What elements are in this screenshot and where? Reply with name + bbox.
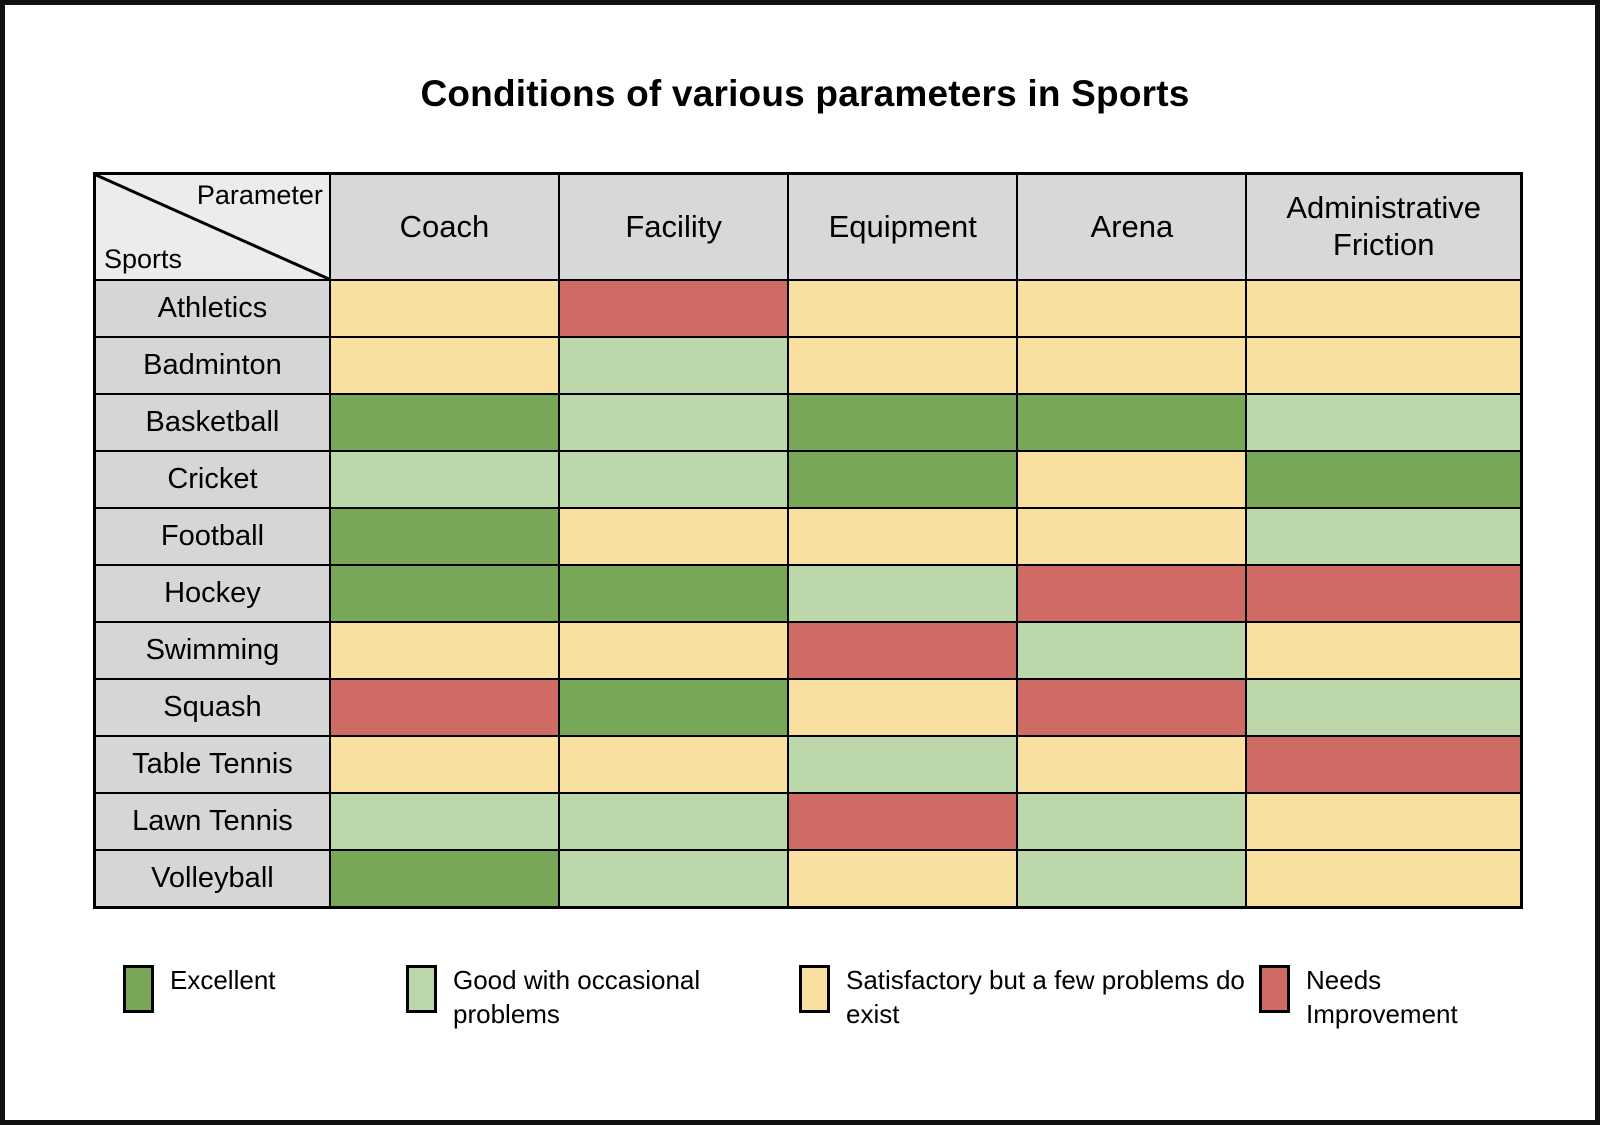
matrix-cell-badminton-coach <box>330 337 559 394</box>
row-header-lawn-tennis: Lawn Tennis <box>95 793 330 850</box>
legend-item-good: Good with occasional problems <box>406 960 799 1032</box>
matrix-cell-athletics-facility <box>559 280 788 337</box>
column-header-administrative-friction: Administrative Friction <box>1246 174 1521 281</box>
legend-label-good: Good with occasional problems <box>453 960 799 1032</box>
matrix-cell-table-tennis-equipment <box>788 736 1017 793</box>
row-header-swimming: Swimming <box>95 622 330 679</box>
row-header-athletics: Athletics <box>95 280 330 337</box>
row-header-squash: Squash <box>95 679 330 736</box>
matrix-row: Hockey <box>95 565 1522 622</box>
matrix-cell-volleyball-coach <box>330 850 559 908</box>
matrix-cell-lawn-tennis-coach <box>330 793 559 850</box>
matrix-cell-squash-arena <box>1017 679 1246 736</box>
row-header-cricket: Cricket <box>95 451 330 508</box>
matrix-cell-cricket-coach <box>330 451 559 508</box>
column-axis-label: Parameter <box>197 180 323 211</box>
matrix-row: Table Tennis <box>95 736 1522 793</box>
matrix-cell-lawn-tennis-equipment <box>788 793 1017 850</box>
matrix-cell-football-arena <box>1017 508 1246 565</box>
matrix-cell-basketball-arena <box>1017 394 1246 451</box>
row-axis-label: Sports <box>104 244 182 275</box>
matrix-cell-football-administrative-friction <box>1246 508 1521 565</box>
row-header-hockey: Hockey <box>95 565 330 622</box>
legend: Excellent Good with occasional problems … <box>123 960 1543 1032</box>
matrix-row: Badminton <box>95 337 1522 394</box>
matrix-cell-badminton-equipment <box>788 337 1017 394</box>
matrix-cell-lawn-tennis-arena <box>1017 793 1246 850</box>
matrix-cell-cricket-facility <box>559 451 788 508</box>
matrix-cell-cricket-administrative-friction <box>1246 451 1521 508</box>
matrix-header-row: Parameter Sports Coach Facility Equipmen… <box>95 174 1522 281</box>
matrix-cell-swimming-facility <box>559 622 788 679</box>
matrix-cell-volleyball-facility <box>559 850 788 908</box>
matrix-cell-swimming-coach <box>330 622 559 679</box>
page-title: Conditions of various parameters in Spor… <box>5 73 1600 115</box>
legend-label-needs-improvement: Needs Improvement <box>1306 960 1539 1032</box>
row-header-volleyball: Volleyball <box>95 850 330 908</box>
matrix-cell-lawn-tennis-facility <box>559 793 788 850</box>
legend-swatch-icon-excellent <box>123 965 154 1013</box>
row-header-badminton: Badminton <box>95 337 330 394</box>
matrix-cell-athletics-coach <box>330 280 559 337</box>
matrix-cell-football-coach <box>330 508 559 565</box>
matrix-cell-table-tennis-administrative-friction <box>1246 736 1521 793</box>
matrix-cell-volleyball-administrative-friction <box>1246 850 1521 908</box>
matrix-cell-hockey-coach <box>330 565 559 622</box>
column-header-equipment: Equipment <box>788 174 1017 281</box>
matrix-cell-swimming-arena <box>1017 622 1246 679</box>
legend-label-satisfactory: Satisfactory but a few problems do exist <box>846 960 1259 1032</box>
column-header-facility: Facility <box>559 174 788 281</box>
legend-item-needs-improvement: Needs Improvement <box>1259 960 1539 1032</box>
matrix-cell-table-tennis-coach <box>330 736 559 793</box>
matrix-cell-volleyball-arena <box>1017 850 1246 908</box>
matrix-cell-football-facility <box>559 508 788 565</box>
row-header-basketball: Basketball <box>95 394 330 451</box>
matrix-cell-squash-equipment <box>788 679 1017 736</box>
column-header-arena: Arena <box>1017 174 1246 281</box>
legend-swatch-icon-needs-improvement <box>1259 965 1290 1013</box>
matrix-cell-swimming-administrative-friction <box>1246 622 1521 679</box>
chart-canvas: Conditions of various parameters in Spor… <box>0 0 1600 1125</box>
matrix-row: Athletics <box>95 280 1522 337</box>
matrix-row: Swimming <box>95 622 1522 679</box>
legend-swatch-icon-good <box>406 965 437 1013</box>
legend-swatch-icon-satisfactory <box>799 965 830 1013</box>
matrix-cell-basketball-administrative-friction <box>1246 394 1521 451</box>
matrix-row: Cricket <box>95 451 1522 508</box>
matrix-row: Basketball <box>95 394 1522 451</box>
matrix-cell-badminton-arena <box>1017 337 1246 394</box>
matrix-cell-badminton-administrative-friction <box>1246 337 1521 394</box>
matrix-cell-squash-facility <box>559 679 788 736</box>
column-header-coach: Coach <box>330 174 559 281</box>
matrix-cell-hockey-equipment <box>788 565 1017 622</box>
matrix-body: AthleticsBadmintonBasketballCricketFootb… <box>95 280 1522 908</box>
matrix-table: Parameter Sports Coach Facility Equipmen… <box>93 172 1523 909</box>
matrix-cell-hockey-administrative-friction <box>1246 565 1521 622</box>
matrix-cell-basketball-facility <box>559 394 788 451</box>
matrix-cell-squash-administrative-friction <box>1246 679 1521 736</box>
matrix-cell-athletics-arena <box>1017 280 1246 337</box>
matrix-cell-squash-coach <box>330 679 559 736</box>
matrix-cell-football-equipment <box>788 508 1017 565</box>
legend-item-excellent: Excellent <box>123 960 406 1013</box>
matrix-cell-athletics-administrative-friction <box>1246 280 1521 337</box>
legend-label-excellent: Excellent <box>170 960 276 997</box>
matrix-cell-basketball-equipment <box>788 394 1017 451</box>
row-header-table-tennis: Table Tennis <box>95 736 330 793</box>
matrix-cell-basketball-coach <box>330 394 559 451</box>
heatmap-matrix: Parameter Sports Coach Facility Equipmen… <box>93 172 1523 909</box>
matrix-cell-swimming-equipment <box>788 622 1017 679</box>
row-header-football: Football <box>95 508 330 565</box>
matrix-row: Volleyball <box>95 850 1522 908</box>
matrix-cell-athletics-equipment <box>788 280 1017 337</box>
matrix-cell-hockey-facility <box>559 565 788 622</box>
matrix-row: Lawn Tennis <box>95 793 1522 850</box>
matrix-cell-cricket-arena <box>1017 451 1246 508</box>
matrix-corner-cell: Parameter Sports <box>95 174 330 281</box>
matrix-cell-table-tennis-facility <box>559 736 788 793</box>
matrix-cell-lawn-tennis-administrative-friction <box>1246 793 1521 850</box>
legend-item-satisfactory: Satisfactory but a few problems do exist <box>799 960 1259 1032</box>
matrix-cell-hockey-arena <box>1017 565 1246 622</box>
matrix-row: Football <box>95 508 1522 565</box>
matrix-row: Squash <box>95 679 1522 736</box>
matrix-cell-volleyball-equipment <box>788 850 1017 908</box>
matrix-cell-badminton-facility <box>559 337 788 394</box>
matrix-cell-table-tennis-arena <box>1017 736 1246 793</box>
matrix-cell-cricket-equipment <box>788 451 1017 508</box>
